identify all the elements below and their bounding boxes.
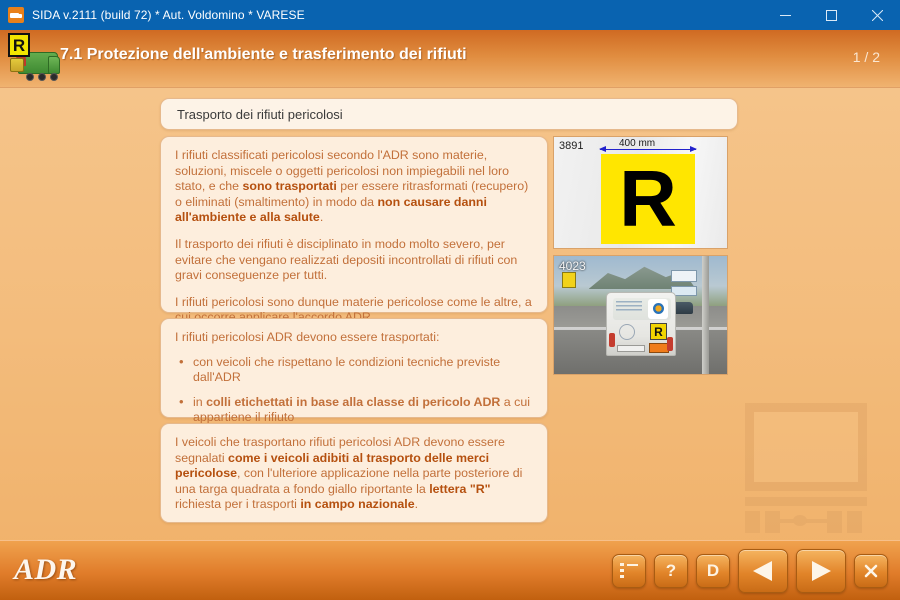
panel-requirements-lead: I rifiuti pericolosi ADR devono essere t… <box>175 330 533 346</box>
panel-definition-text: I rifiuti classificati pericolosi second… <box>175 148 533 326</box>
left-triangle-icon <box>750 559 776 583</box>
panel-signage-text: I veicoli che trasportano rifiuti perico… <box>175 435 533 513</box>
previous-button[interactable] <box>738 549 788 593</box>
close-button[interactable] <box>854 554 888 588</box>
page-title: 7.1 Protezione dell'ambiente e trasferim… <box>60 46 467 64</box>
van-taillight-right <box>667 337 673 351</box>
van-orange-hazard-plate <box>649 343 669 353</box>
van-lettering <box>616 301 642 313</box>
window-title: SIDA v.2111 (build 72) * Aut. Voldomino … <box>32 8 305 22</box>
list-item: in colli etichettati in base alla classe… <box>175 395 533 426</box>
photo-billboard-1 <box>671 270 697 282</box>
r-letter: R <box>619 165 677 234</box>
footer-toolbar: ADR ? D <box>0 540 900 600</box>
page-header: R 7.1 Protezione dell'ambiente e trasfer… <box>0 30 900 88</box>
van-license-plate <box>617 345 645 352</box>
garbage-truck-r-plate-icon: R <box>4 32 60 86</box>
right-triangle-icon <box>808 559 834 583</box>
van-company-logo <box>648 299 668 319</box>
dimension-arrow-icon <box>600 149 696 150</box>
toolbar-buttons: ? D <box>612 549 888 593</box>
figure-van-photo[interactable]: R 4023 <box>553 255 728 375</box>
lesson-subtitle-box: Trasporto dei rifiuti pericolosi <box>160 98 738 130</box>
panel-definition: I rifiuti classificati pericolosi second… <box>160 136 548 313</box>
photo-roadsign-yellow <box>562 272 576 288</box>
dimension-label: 400 mm <box>616 138 658 149</box>
content-area: Trasporto dei rifiuti pericolosi I rifiu… <box>0 88 900 540</box>
lesson-subtitle: Trasporto dei rifiuti pericolosi <box>177 107 343 122</box>
truck-wheel <box>38 73 46 81</box>
panel-signage: I veicoli che trasportano rifiuti perico… <box>160 423 548 523</box>
minimize-icon[interactable] <box>762 0 808 30</box>
application-window: SIDA v.2111 (build 72) * Aut. Voldomino … <box>0 0 900 600</box>
window-titlebar: SIDA v.2111 (build 72) * Aut. Voldomino … <box>0 0 900 30</box>
letter-d-icon: D <box>707 561 719 581</box>
figure-id-label: 4023 <box>559 259 586 273</box>
figure-r-plate-diagram[interactable]: 3891 400 mm R <box>553 136 728 249</box>
yellow-r-plate: R <box>601 154 695 244</box>
app-truck-icon <box>8 7 24 23</box>
truck-wheel <box>26 73 34 81</box>
maximize-icon[interactable] <box>808 0 854 30</box>
list-icon <box>620 564 638 578</box>
close-icon[interactable] <box>854 0 900 30</box>
page-indicator: 1 / 2 <box>853 49 880 65</box>
list-item: con veicoli che rispettano le condizioni… <box>175 355 533 386</box>
window-controls <box>762 0 900 30</box>
question-mark-icon: ? <box>666 561 676 581</box>
next-button[interactable] <box>796 549 846 593</box>
figure-id-label: 3891 <box>559 140 583 152</box>
photo-white-van: R <box>606 292 676 356</box>
van-taillight-left <box>609 333 615 347</box>
truck-bin-shape <box>10 58 24 72</box>
dictionary-button[interactable]: D <box>696 554 730 588</box>
van-handle-icon <box>619 324 635 340</box>
van-r-plate: R <box>650 323 667 340</box>
help-button[interactable]: ? <box>654 554 688 588</box>
truck-cab-shape <box>48 56 60 74</box>
header-r-plate-icon: R <box>8 33 30 57</box>
panel-requirements: I rifiuti pericolosi ADR devono essere t… <box>160 318 548 418</box>
photo-utility-pole <box>702 256 709 374</box>
adr-brand-label: ADR <box>14 553 77 587</box>
x-icon <box>863 563 879 579</box>
panel-requirements-bullets: con veicoli che rispettano le condizioni… <box>175 355 533 426</box>
truck-wheel <box>50 73 58 81</box>
index-button[interactable] <box>612 554 646 588</box>
